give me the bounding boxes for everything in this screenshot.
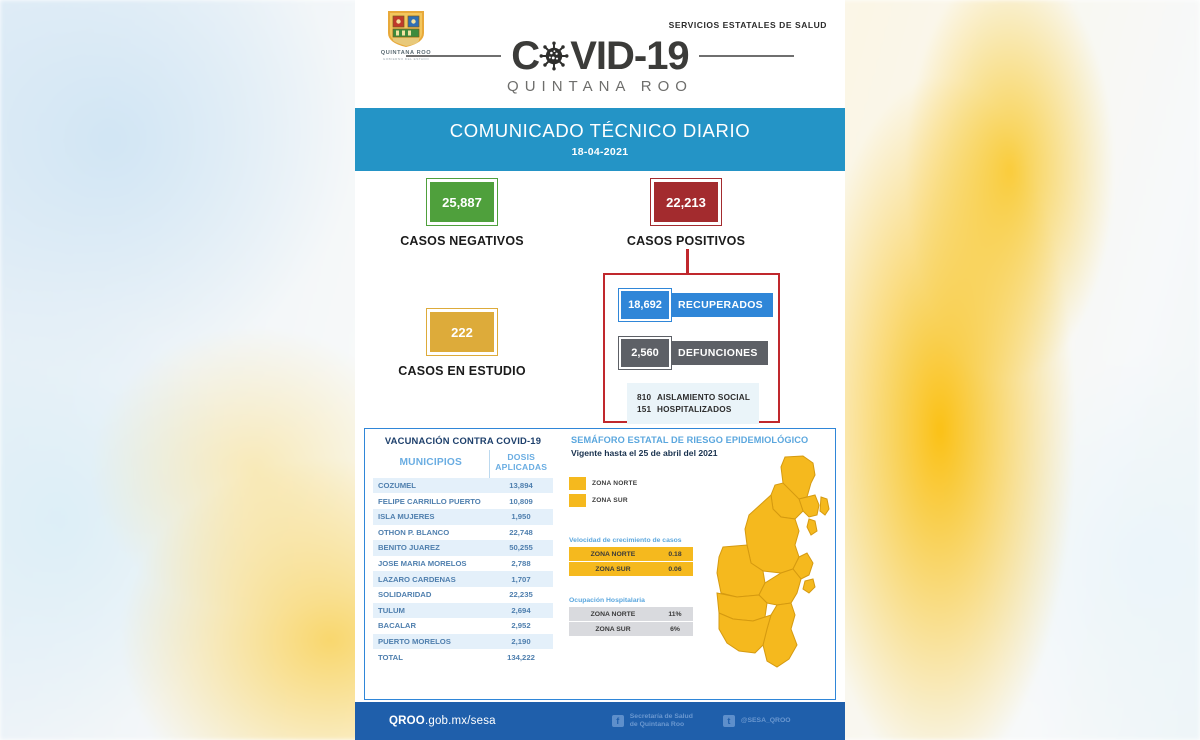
- poster-footer: QROO.gob.mx/sesa f Secretaría de Salud d…: [355, 702, 845, 740]
- hospitalizados-row: 151HOSPITALIZADOS: [637, 405, 759, 414]
- covid-text-after: VID-19: [570, 36, 689, 76]
- casos-estudio-label: CASOS EN ESTUDIO: [377, 364, 547, 378]
- casos-positivos-value: 22,213: [651, 179, 721, 225]
- municipio-name: ISLA MUJERES: [373, 509, 489, 525]
- poster-header: QUINTANA ROO GOBIERNO DEL ESTADO SERVICI…: [355, 0, 845, 108]
- semaforo-legend: ZONA NORTE ZONA SUR: [569, 477, 637, 511]
- velocidad-table: ZONA NORTE 0.18 ZONA SUR 0.06: [569, 547, 693, 577]
- casos-negativos-label: CASOS NEGATIVOS: [377, 234, 547, 248]
- facebook-link[interactable]: f Secretaría de Salud de Quintana Roo: [612, 713, 693, 730]
- legend-swatch-icon: [569, 477, 586, 490]
- dosis-aplicadas-value: 22,748: [489, 525, 553, 541]
- footer-website-link[interactable]: QROO.gob.mx/sesa: [389, 715, 496, 727]
- col-dosis-line1: DOSIS: [507, 452, 535, 462]
- covid-subtitle: QUINTANA ROO: [355, 78, 845, 95]
- hospitalizados-label: HOSPITALIZADOS: [657, 405, 732, 414]
- velocidad-zona-sur-label: ZONA SUR: [569, 562, 657, 577]
- table-row: BENITO JUAREZ50,255: [373, 540, 553, 556]
- servicios-estatales-label: SERVICIOS ESTATALES DE SALUD: [669, 20, 827, 30]
- dosis-aplicadas-value: 2,788: [489, 556, 553, 572]
- table-row: OTHON P. BLANCO22,748: [373, 525, 553, 541]
- banner-title: COMUNICADO TÉCNICO DIARIO: [355, 120, 845, 142]
- ocupacion-zona-sur-label: ZONA SUR: [569, 622, 657, 637]
- stat-casos-negativos: 25,887 CASOS NEGATIVOS: [377, 179, 547, 248]
- dosis-aplicadas-value: 10,809: [489, 493, 553, 509]
- covid-logo: C: [355, 36, 845, 95]
- banner-date: 18-04-2021: [355, 146, 845, 158]
- table-row: BACALAR2,952: [373, 618, 553, 634]
- vaccination-panel: VACUNACIÓN CONTRA COVID-19 MUNICIPIOS DO…: [365, 429, 561, 699]
- table-row: COZUMEL13,894: [373, 478, 553, 494]
- aislamiento-social-row: 810AISLAMIENTO SOCIAL: [637, 393, 759, 402]
- semaforo-panel: SEMÁFORO ESTATAL DE RIESGO EPIDEMIOLÓGIC…: [561, 429, 835, 699]
- table-row: JOSE MARIA MORELOS2,788: [373, 556, 553, 572]
- ocupacion-table: ZONA NORTE 11% ZONA SUR 6%: [569, 607, 693, 637]
- velocidad-block: Velocidad de crecimiento de casos ZONA N…: [569, 537, 693, 577]
- table-row: LAZARO CARDENAS1,707: [373, 571, 553, 587]
- ocupacion-block: Ocupación Hospitalaria ZONA NORTE 11% ZO…: [569, 597, 693, 637]
- table-row: PUERTO MORELOS2,190: [373, 634, 553, 650]
- recuperados-label: RECUPERADOS: [665, 293, 773, 317]
- coronavirus-icon: [539, 41, 569, 71]
- legend-item-zona-norte: ZONA NORTE: [569, 477, 637, 490]
- dosis-aplicadas-value: 2,694: [489, 603, 553, 619]
- statistics-section: 25,887 CASOS NEGATIVOS 222 CASOS EN ESTU…: [355, 171, 845, 429]
- col-dosis-line2: APLICADAS: [495, 462, 547, 472]
- ocupacion-zona-sur-value: 6%: [657, 622, 693, 637]
- rule-right: [699, 55, 794, 57]
- dosis-aplicadas-value: 2,190: [489, 634, 553, 650]
- dosis-aplicadas-value: 13,894: [489, 478, 553, 494]
- legend-label-zona-sur: ZONA SUR: [592, 497, 628, 504]
- municipio-name: SOLIDARIDAD: [373, 587, 489, 603]
- casos-positivos-label: CASOS POSITIVOS: [601, 234, 771, 248]
- table-row: TULUM2,694: [373, 603, 553, 619]
- dosis-aplicadas-value: 2,952: [489, 618, 553, 634]
- dosis-aplicadas-value: 1,950: [489, 509, 553, 525]
- semaforo-title: SEMÁFORO ESTATAL DE RIESGO EPIDEMIOLÓGIC…: [571, 435, 827, 445]
- lower-panel: VACUNACIÓN CONTRA COVID-19 MUNICIPIOS DO…: [364, 428, 836, 700]
- aislamiento-label: AISLAMIENTO SOCIAL: [657, 393, 750, 402]
- vaccination-title: VACUNACIÓN CONTRA COVID-19: [373, 435, 553, 450]
- col-municipios: MUNICIPIOS: [373, 450, 489, 478]
- twitter-handle: @SESA_QROO: [741, 717, 791, 725]
- dosis-aplicadas-value: 50,255: [489, 540, 553, 556]
- legend-item-zona-sur: ZONA SUR: [569, 494, 637, 507]
- casos-estudio-value: 222: [427, 309, 497, 355]
- municipio-name: BACALAR: [373, 618, 489, 634]
- municipio-name: TOTAL: [373, 649, 489, 665]
- stat-casos-positivos: 22,213 CASOS POSITIVOS: [601, 179, 771, 248]
- facebook-line1: Secretaría de Salud: [630, 713, 693, 720]
- municipio-name: OTHON P. BLANCO: [373, 525, 489, 541]
- footer-url-rest: .gob.mx/sesa: [425, 715, 496, 727]
- legend-swatch-icon: [569, 494, 586, 507]
- defunciones-label: DEFUNCIONES: [665, 341, 768, 365]
- velocidad-zona-norte-value: 0.18: [657, 547, 693, 561]
- facebook-line2: de Quintana Roo: [630, 721, 684, 728]
- municipio-name: FELIPE CARRILLO PUERTO: [373, 493, 489, 509]
- table-row: TOTAL134,222: [373, 649, 553, 665]
- table-row: ZONA SUR 0.06: [569, 562, 693, 577]
- sub-info-panel: 810AISLAMIENTO SOCIAL 151HOSPITALIZADOS: [627, 383, 759, 424]
- municipio-name: LAZARO CARDENAS: [373, 571, 489, 587]
- stat-recuperados: 18,692 RECUPERADOS: [619, 289, 773, 321]
- rule-left: [406, 55, 501, 57]
- dosis-aplicadas-value: 22,235: [489, 587, 553, 603]
- dosis-aplicadas-value: 1,707: [489, 571, 553, 587]
- twitter-link[interactable]: t @SESA_QROO: [723, 715, 791, 727]
- table-row: ZONA NORTE 11%: [569, 607, 693, 621]
- covid-text-before: C: [511, 36, 539, 76]
- municipio-name: JOSE MARIA MORELOS: [373, 556, 489, 572]
- covid-report-poster: QUINTANA ROO GOBIERNO DEL ESTADO SERVICI…: [355, 0, 845, 740]
- facebook-label: Secretaría de Salud de Quintana Roo: [630, 713, 693, 730]
- quintana-roo-map-icon: [703, 453, 831, 675]
- casos-negativos-value: 25,887: [427, 179, 497, 225]
- bracket-connector-stem: [686, 249, 689, 273]
- footer-social-links: f Secretaría de Salud de Quintana Roo t …: [612, 713, 791, 730]
- ocupacion-heading: Ocupación Hospitalaria: [569, 597, 693, 605]
- ocupacion-zona-norte-value: 11%: [657, 607, 693, 621]
- velocidad-heading: Velocidad de crecimiento de casos: [569, 537, 693, 545]
- table-row: FELIPE CARRILLO PUERTO10,809: [373, 493, 553, 509]
- table-header-row: MUNICIPIOS DOSIS APLICADAS: [373, 450, 553, 478]
- table-row: ZONA SUR 6%: [569, 622, 693, 637]
- facebook-icon: f: [612, 715, 624, 727]
- comunicado-banner: COMUNICADO TÉCNICO DIARIO 18-04-2021: [355, 108, 845, 171]
- aislamiento-value: 810: [637, 393, 657, 402]
- footer-url-bold: QROO: [389, 715, 425, 727]
- municipio-name: PUERTO MORELOS: [373, 634, 489, 650]
- dosis-aplicadas-value: 134,222: [489, 649, 553, 665]
- vaccination-table: MUNICIPIOS DOSIS APLICADAS COZUMEL13,894…: [373, 450, 553, 665]
- twitter-icon: t: [723, 715, 735, 727]
- col-dosis-aplicadas: DOSIS APLICADAS: [489, 450, 553, 478]
- table-row: ISLA MUJERES1,950: [373, 509, 553, 525]
- hospitalizados-value: 151: [637, 405, 657, 414]
- ocupacion-zona-norte-label: ZONA NORTE: [569, 607, 657, 621]
- velocidad-zona-sur-value: 0.06: [657, 562, 693, 577]
- municipio-name: TULUM: [373, 603, 489, 619]
- defunciones-value: 2,560: [619, 337, 671, 369]
- legend-label-zona-norte: ZONA NORTE: [592, 480, 637, 487]
- municipio-name: BENITO JUAREZ: [373, 540, 489, 556]
- velocidad-zona-norte-label: ZONA NORTE: [569, 547, 657, 561]
- stat-defunciones: 2,560 DEFUNCIONES: [619, 337, 768, 369]
- stat-casos-en-estudio: 222 CASOS EN ESTUDIO: [377, 309, 547, 378]
- table-row: ZONA NORTE 0.18: [569, 547, 693, 561]
- table-row: SOLIDARIDAD22,235: [373, 587, 553, 603]
- municipio-name: COZUMEL: [373, 478, 489, 494]
- recuperados-value: 18,692: [619, 289, 671, 321]
